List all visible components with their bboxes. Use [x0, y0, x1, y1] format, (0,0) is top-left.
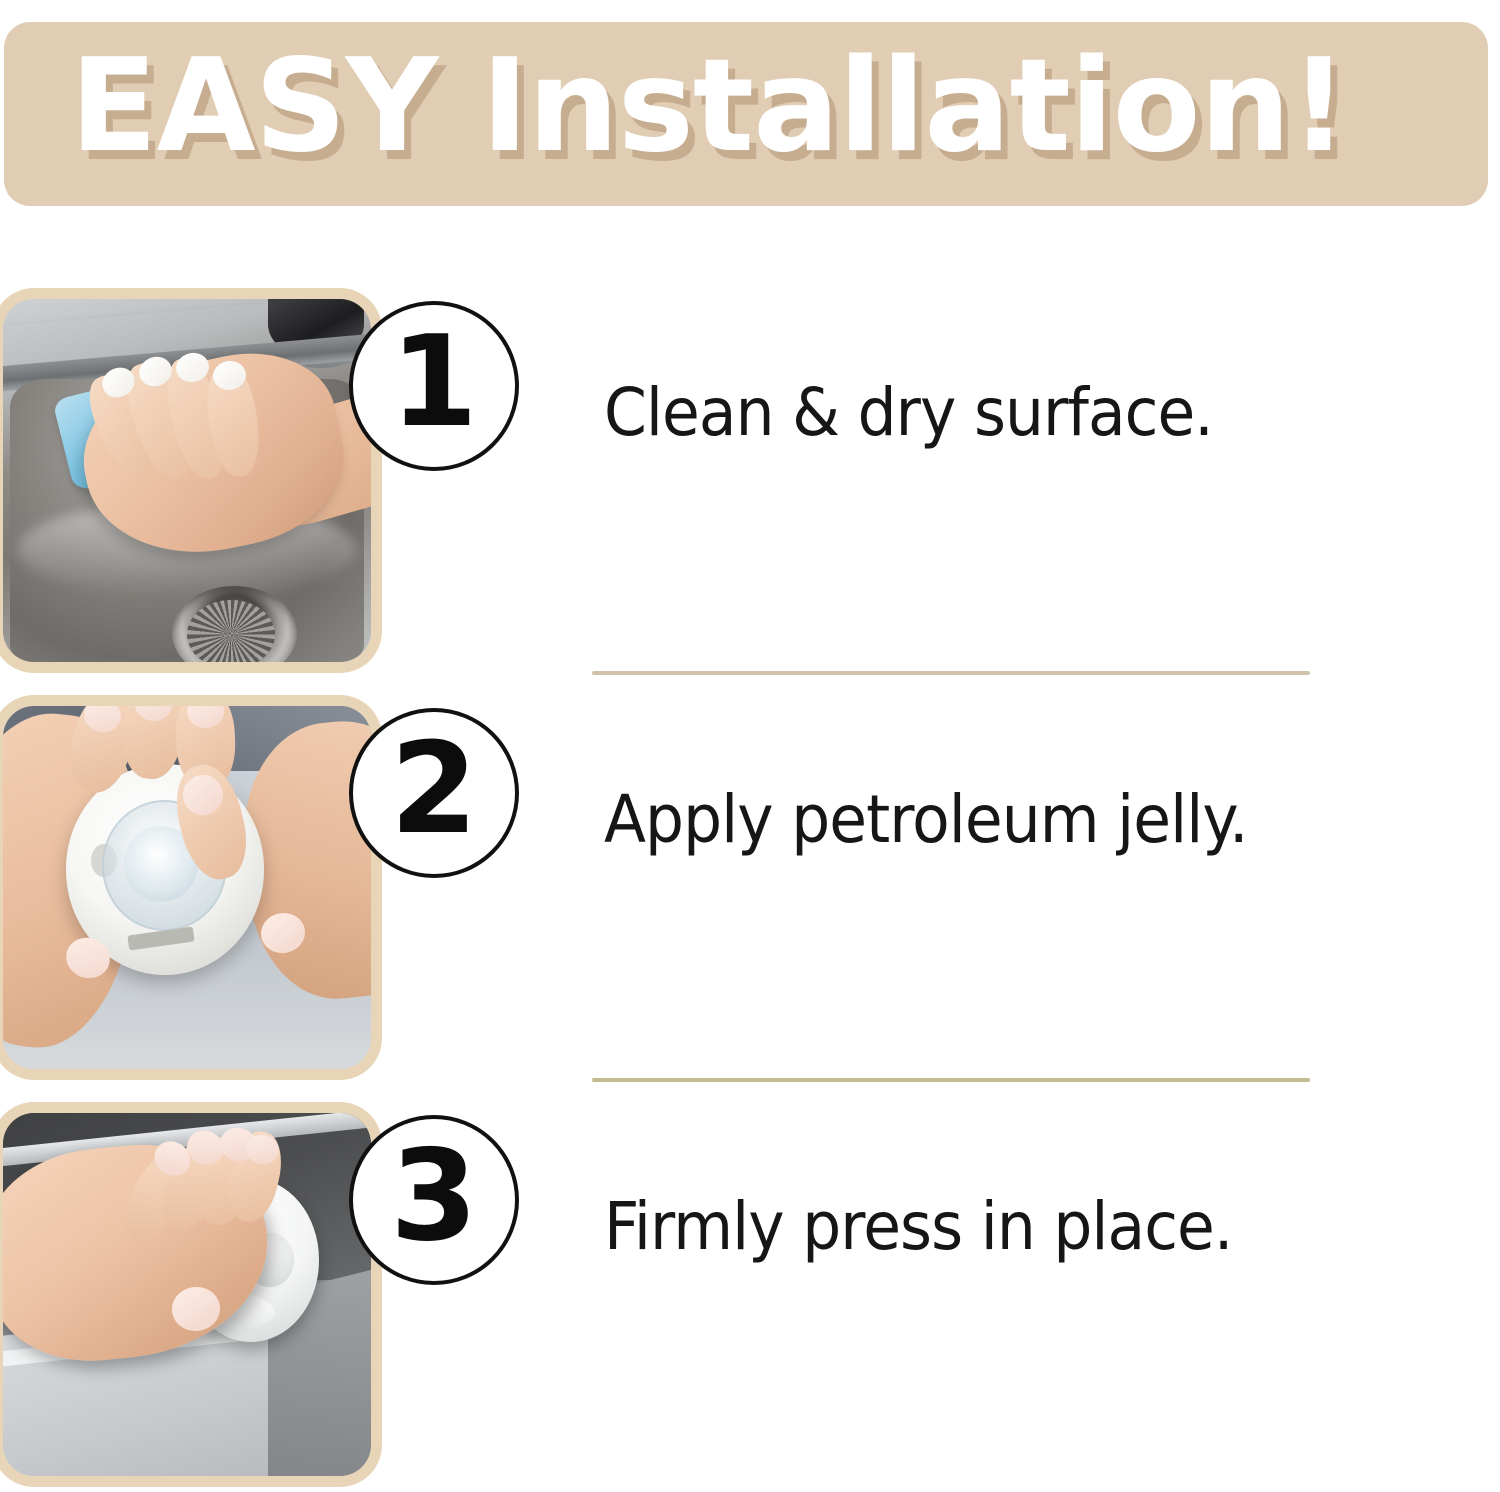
- easy-installation-banner: EASY Installation!: [4, 22, 1488, 206]
- step-photo-2: [0, 695, 382, 1080]
- installation-steps-list: 1 Clean & dry surface.: [0, 288, 1500, 1492]
- step-item-3: 3 Firmly press in place.: [0, 1102, 1500, 1492]
- step-item-1: 1 Clean & dry surface.: [0, 288, 1500, 678]
- step-item-2: 2 Apply petroleum jelly.: [0, 695, 1500, 1085]
- step-caption-2: Apply petroleum jelly.: [604, 784, 1248, 857]
- step-caption-3: Firmly press in place.: [604, 1191, 1232, 1264]
- page-title: EASY Installation!: [4, 43, 1347, 185]
- step-photo-3: [0, 1102, 382, 1487]
- step-caption-container-1: Clean & dry surface.: [604, 328, 1484, 498]
- step-number-badge-3: 3: [349, 1115, 519, 1285]
- step-number-badge-2: 2: [349, 708, 519, 878]
- step-number-3: 3: [390, 1133, 478, 1267]
- step-number-1: 1: [390, 319, 478, 453]
- step-divider-2: [592, 1078, 1310, 1082]
- step-divider-1: [592, 671, 1310, 675]
- scene-press-in-place: [3, 1113, 371, 1476]
- step-number-badge-1: 1: [349, 301, 519, 471]
- step-caption-container-3: Firmly press in place.: [604, 1142, 1484, 1312]
- step-caption-container-2: Apply petroleum jelly.: [604, 735, 1484, 905]
- scene-apply-jelly: [3, 706, 371, 1069]
- scene-clean-sink: [3, 299, 371, 662]
- step-caption-1: Clean & dry surface.: [604, 377, 1213, 450]
- step-number-2: 2: [390, 726, 478, 860]
- step-photo-1: [0, 288, 382, 673]
